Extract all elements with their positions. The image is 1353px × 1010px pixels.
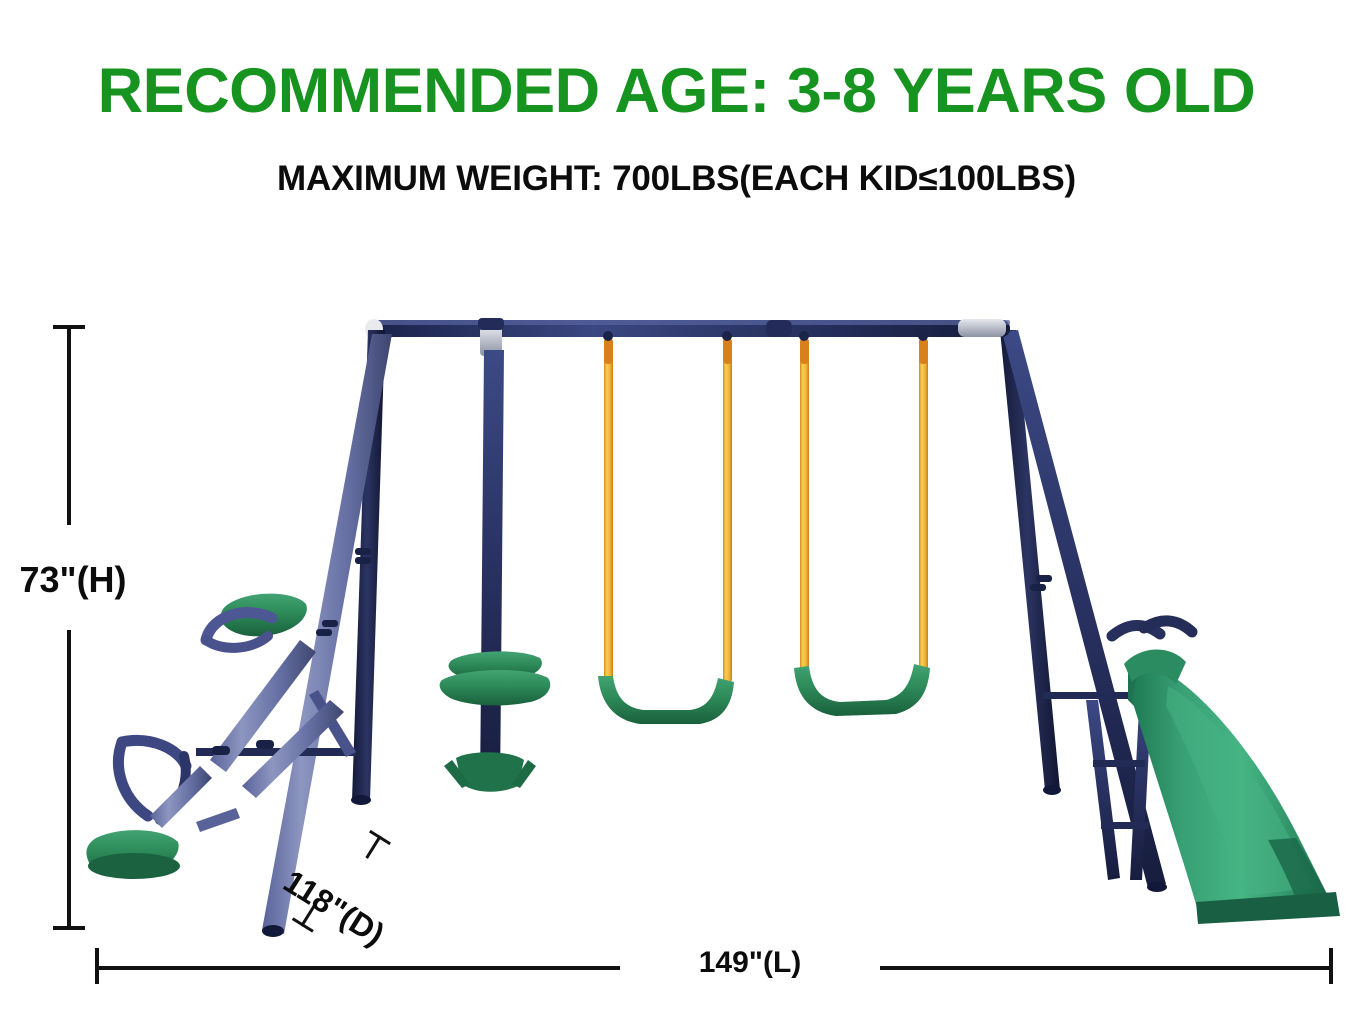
infographic-page: RECOMMENDED AGE: 3-8 YEARS OLD MAXIMUM W… <box>0 0 1353 1010</box>
height-dimension-label: 73"(H) <box>8 558 138 602</box>
height-dimension-line-lower <box>67 630 71 930</box>
belt-swing-left <box>598 331 734 724</box>
trapeze-climber <box>440 318 551 792</box>
height-dimension-cap-bottom <box>53 926 85 930</box>
length-dimension-cap-right <box>1329 948 1333 984</box>
length-dimension-cap-left <box>95 948 99 984</box>
slide-ladder <box>1086 625 1160 880</box>
belt-swing-right <box>794 331 930 716</box>
depth-dimension-label: 118"(D) <box>277 862 391 953</box>
right-a-frame <box>1000 330 1167 892</box>
depth-dimension-group: 118"(D) <box>283 828 443 948</box>
page-title: RECOMMENDED AGE: 3-8 YEARS OLD <box>0 56 1353 126</box>
swing-set-illustration <box>0 0 1353 1010</box>
height-dimension-line-upper <box>67 325 71 525</box>
top-beam <box>365 319 1010 339</box>
wave-slide <box>1124 621 1340 924</box>
height-dimension-cap-top <box>53 325 85 329</box>
length-dimension-label: 149"(L) <box>620 944 880 982</box>
depth-dimension-tick-top <box>365 835 381 859</box>
max-weight-subtitle: MAXIMUM WEIGHT: 700LBS(EACH KID≤100LBS) <box>0 158 1353 200</box>
